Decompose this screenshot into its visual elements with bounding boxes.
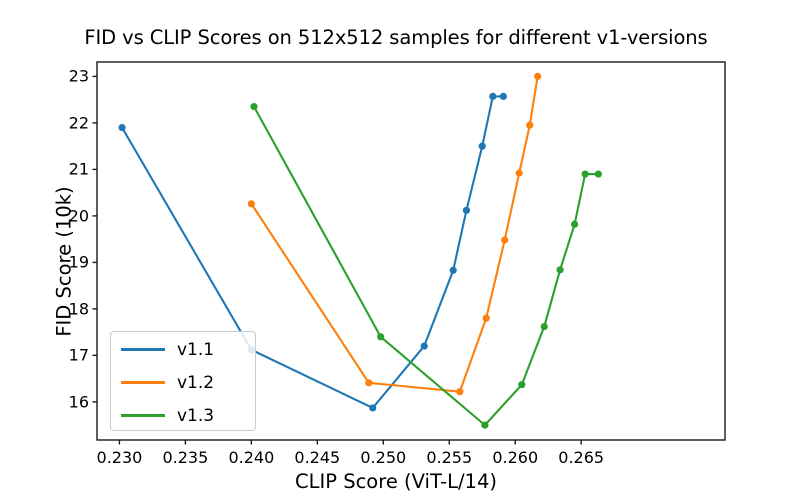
data-point	[365, 379, 372, 386]
series-v1-2	[248, 73, 542, 395]
legend-label: v1.2	[177, 373, 214, 393]
data-point	[582, 170, 589, 177]
data-point	[463, 207, 470, 214]
figure-canvas: FID vs CLIP Scores on 512x512 samples fo…	[0, 0, 792, 504]
data-point	[421, 342, 428, 349]
data-point	[481, 422, 488, 429]
x-tick-label: 0.260	[492, 448, 538, 467]
data-point	[479, 143, 486, 150]
data-point	[526, 122, 533, 129]
y-axis-label: FID Score (10k)	[53, 92, 76, 432]
x-tick-label: 0.235	[162, 448, 208, 467]
data-point	[500, 93, 507, 100]
x-tick-label: 0.255	[426, 448, 472, 467]
data-point	[571, 221, 578, 228]
legend: v1.1v1.2v1.3	[110, 331, 256, 431]
x-axis-label: CLIP Score (ViT-L/14)	[0, 470, 792, 493]
legend-color-swatch	[121, 414, 165, 417]
legend-item-v1-3[interactable]: v1.3	[111, 399, 257, 432]
x-tick-label: 0.245	[294, 448, 340, 467]
legend-color-swatch	[121, 348, 165, 351]
data-point	[248, 200, 255, 207]
data-point	[377, 333, 384, 340]
legend-color-swatch	[121, 381, 165, 384]
x-tick-label: 0.240	[228, 448, 274, 467]
series-v1-3	[250, 103, 602, 429]
data-point	[534, 73, 541, 80]
data-point	[456, 388, 463, 395]
data-point	[501, 236, 508, 243]
legend-label: v1.1	[177, 340, 214, 360]
x-tick-label: 0.265	[558, 448, 604, 467]
data-point	[516, 170, 523, 177]
data-point	[595, 170, 602, 177]
y-tick-label: 23	[51, 67, 89, 86]
x-tick-label: 0.250	[360, 448, 406, 467]
data-point	[489, 93, 496, 100]
data-point	[483, 315, 490, 322]
legend-item-v1-2[interactable]: v1.2	[111, 366, 257, 399]
series-line	[251, 76, 537, 391]
data-point	[556, 266, 563, 273]
x-tick-label: 0.230	[97, 448, 143, 467]
series-line	[254, 107, 598, 425]
data-point	[250, 103, 257, 110]
data-point	[450, 267, 457, 274]
legend-label: v1.3	[177, 406, 214, 426]
data-point	[541, 323, 548, 330]
data-point	[518, 381, 525, 388]
data-point	[369, 404, 376, 411]
data-point	[118, 124, 125, 131]
chart-title: FID vs CLIP Scores on 512x512 samples fo…	[0, 26, 792, 49]
legend-item-v1-1[interactable]: v1.1	[111, 333, 257, 366]
